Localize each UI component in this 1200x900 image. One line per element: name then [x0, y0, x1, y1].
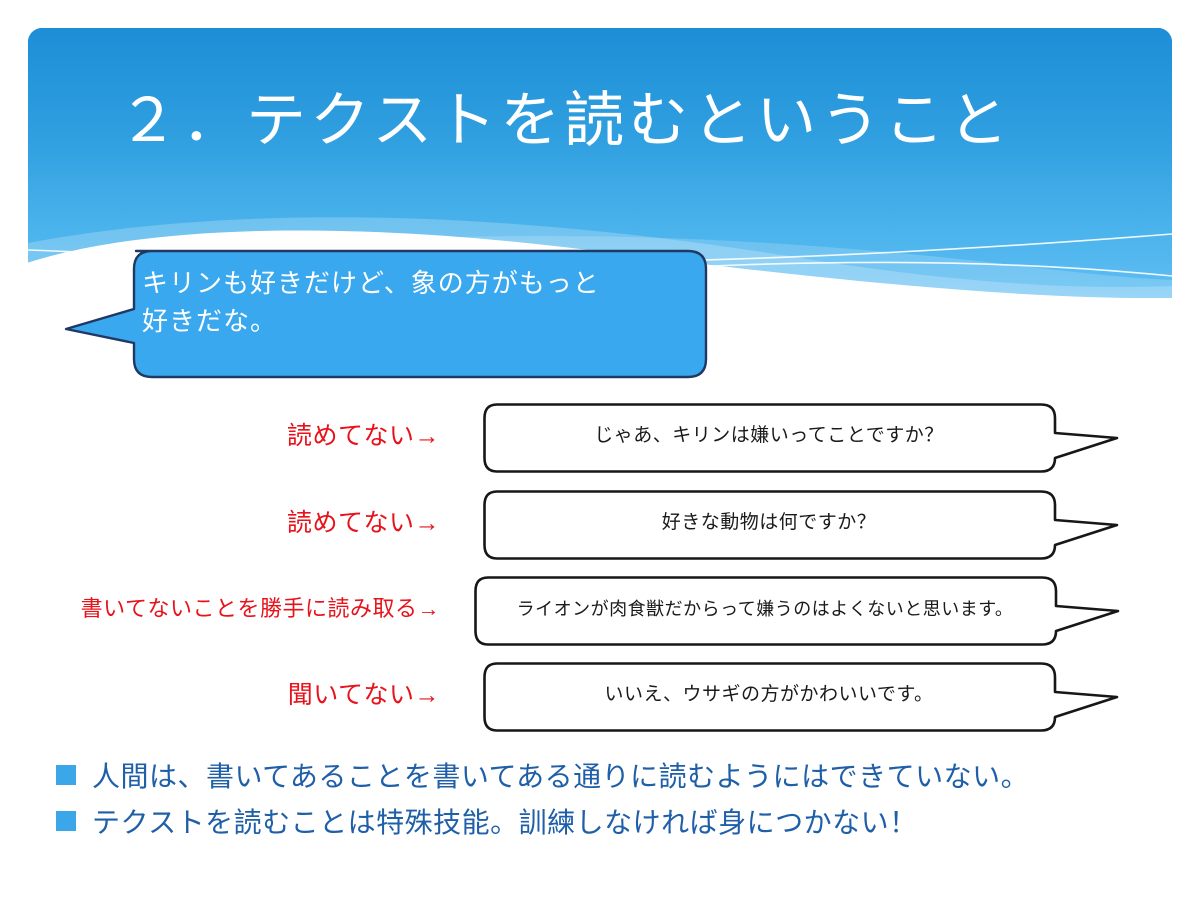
bullet-item-1: 人間は、書いてあることを書いてある通りに読むようにはできていない。 [56, 752, 1176, 798]
reply-callout-4: いいえ、ウサギの方がかわいいです。 [483, 662, 1123, 728]
reply-callout-text-4: いいえ、ウサギの方がかわいいです。 [483, 662, 1055, 728]
bullet-item-2: テクストを読むことは特殊技能。訓練しなければ身につかない！ [56, 798, 1176, 844]
annotated-reply-row-1: 読めてない→ じゃあ、キリンは嫌いってことですか？ [0, 403, 1200, 473]
annotated-reply-row-3: 書いてないことを勝手に読み取る→ ライオンが肉食獣だからって嫌うのはよくないと思… [0, 576, 1200, 646]
prompt-bubble-line-2: 好きだな。 [142, 303, 682, 341]
reply-callout-text-3: ライオンが肉食獣だからって嫌うのはよくないと思います。 [474, 576, 1056, 642]
reply-callout-1: じゃあ、キリンは嫌いってことですか？ [483, 403, 1123, 469]
slide-canvas: ２．テクストを読むということ キリンも好きだけど、象の方がもっと 好きだな。 読… [0, 0, 1200, 900]
row-label-3: 書いてないことを勝手に読み取る→ [0, 576, 440, 642]
prompt-speech-bubble: キリンも好きだけど、象の方がもっと 好きだな。 [60, 243, 720, 383]
square-bullet-icon [56, 811, 76, 831]
page-title: ２．テクストを読むということ [118, 86, 1172, 155]
summary-bullet-list: 人間は、書いてあることを書いてある通りに読むようにはできていない。 テクストを読… [56, 752, 1176, 844]
reply-callout-3: ライオンが肉食獣だからって嫌うのはよくないと思います。 [474, 576, 1124, 642]
bullet-text-2: テクストを読むことは特殊技能。訓練しなければ身につかない！ [92, 801, 918, 841]
reply-callout-2: 好きな動物は何ですか？ [483, 490, 1123, 556]
square-bullet-icon [56, 765, 76, 785]
annotated-reply-row-4: 聞いてない→ いいえ、ウサギの方がかわいいです。 [0, 662, 1200, 732]
reply-callout-text-2: 好きな動物は何ですか？ [483, 490, 1055, 556]
row-label-2: 読めてない→ [0, 490, 440, 556]
row-label-1: 読めてない→ [0, 403, 440, 469]
annotated-reply-row-2: 読めてない→ 好きな動物は何ですか？ [0, 490, 1200, 560]
bullet-text-1: 人間は、書いてあることを書いてある通りに読むようにはできていない。 [92, 755, 1029, 795]
reply-callout-text-1: じゃあ、キリンは嫌いってことですか？ [483, 403, 1055, 469]
prompt-bubble-line-1: キリンも好きだけど、象の方がもっと [142, 265, 682, 303]
row-label-4: 聞いてない→ [0, 662, 440, 728]
prompt-bubble-text: キリンも好きだけど、象の方がもっと 好きだな。 [142, 265, 682, 340]
